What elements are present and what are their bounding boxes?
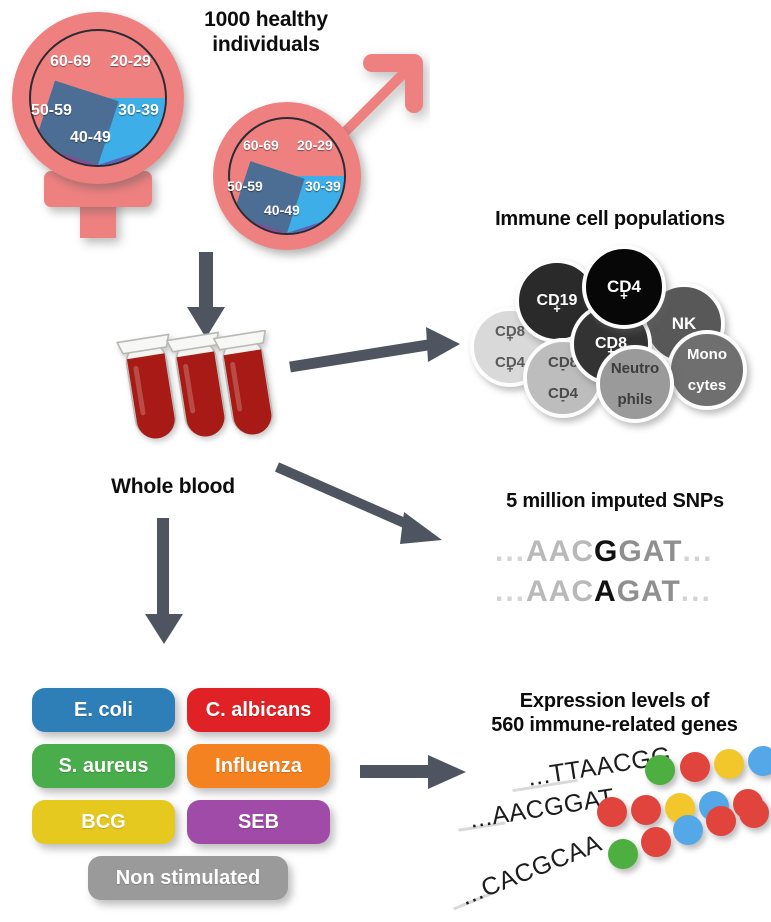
male-pie-label-30-39: 30-39 — [305, 178, 341, 194]
snp-row2-left: AAC — [526, 575, 594, 608]
whole-blood-tubes — [95, 330, 285, 450]
immune-cell-cd4: CD4+ — [582, 245, 666, 329]
stimulus-bcg-label: BCG — [81, 811, 125, 834]
stimulus-seb[interactable]: SEB — [187, 800, 330, 844]
male-pie-label-60-69: 60-69 — [243, 137, 279, 153]
dna-bead — [608, 839, 638, 869]
dna-strand-2-sequence: ...AACGGAT — [468, 783, 617, 835]
male-pie-label-20-29: 20-29 — [297, 137, 333, 153]
female-pie-label-50-59: 50-59 — [31, 102, 72, 120]
female-pie-label-20-29: 20-29 — [110, 53, 151, 71]
cohort-title-line1: 1000 healthy — [172, 8, 360, 33]
snp-row2-variant: A — [594, 575, 617, 608]
snp-row2-right: GAT — [617, 575, 681, 608]
expression-dna-strands: ...TTAACGG ...AACGGAT ...CACGCAA — [440, 748, 771, 918]
dna-bead — [748, 746, 771, 776]
stimulus-e-coli-label: E. coli — [74, 699, 133, 722]
arrow-blood-to-stimuli — [142, 518, 186, 646]
male-pie-label-40-49: 40-49 — [264, 202, 300, 218]
expression-title-line2: 560 immune-related genes — [462, 714, 767, 738]
arrow-blood-to-snp — [274, 450, 454, 550]
snp-row1-prefix: ... — [495, 535, 526, 568]
snp-row2-prefix: ... — [495, 575, 526, 608]
female-pie-label-40-49: 40-49 — [70, 129, 111, 147]
snp-sequence-row-1: ...AACGGAT... — [495, 535, 713, 569]
female-pie-label-60-69: 60-69 — [50, 53, 91, 71]
immune-cell-monocytes: Mono cytes — [667, 330, 747, 410]
stimulus-influenza[interactable]: Influenza — [187, 744, 330, 788]
snp-title: 5 million imputed SNPs — [465, 490, 765, 514]
dna-bead — [673, 815, 703, 845]
immune-cell-neutrophils: Neutro phils — [596, 345, 674, 423]
stimulus-non-stimulated[interactable]: Non stimulated — [88, 856, 288, 900]
dna-bead — [597, 797, 627, 827]
stimulus-non-stimulated-label: Non stimulated — [116, 867, 260, 890]
expression-title-line1: Expression levels of — [462, 690, 767, 714]
stimulus-seb-label: SEB — [238, 811, 279, 834]
male-symbol: 20-29 30-39 40-49 50-59 60-69 — [205, 40, 430, 250]
arrow-blood-to-immune — [288, 325, 463, 380]
stimulus-s-aureus-label: S. aureus — [58, 755, 148, 778]
stimulus-e-coli[interactable]: E. coli — [32, 688, 175, 732]
immune-cell-cluster: CD19+ CD4+ CD8+ CD4+ CD8+ NK CD8- CD4- N… — [460, 245, 760, 420]
immune-cell-neutrophils-line1: Neutro — [611, 361, 659, 376]
dna-bead — [645, 755, 675, 785]
female-pie-label-30-39: 30-39 — [118, 102, 159, 120]
dna-bead — [641, 827, 671, 857]
stimulus-s-aureus[interactable]: S. aureus — [32, 744, 175, 788]
immune-cell-monocytes-line1: Mono — [687, 347, 727, 362]
snp-row1-right: GAT — [618, 535, 682, 568]
dna-strand-3-sequence: ...CACGCAA — [457, 829, 606, 912]
snp-row1-suffix: ... — [682, 535, 713, 568]
expression-title: Expression levels of 560 immune-related … — [462, 690, 767, 737]
immune-cell-neutrophils-line2: phils — [611, 392, 659, 407]
whole-blood-label: Whole blood — [78, 475, 268, 500]
female-symbol: 20-29 30-39 40-49 50-59 60-69 — [8, 8, 188, 238]
stimulus-c-albicans[interactable]: C. albicans — [187, 688, 330, 732]
male-pie-label-50-59: 50-59 — [227, 178, 263, 194]
dna-bead — [739, 798, 769, 828]
arrow-cohort-to-blood — [180, 252, 232, 342]
snp-row1-left: AAC — [526, 535, 594, 568]
stimulus-c-albicans-label: C. albicans — [206, 699, 312, 722]
snp-row1-variant: G — [594, 535, 618, 568]
dna-bead — [631, 795, 661, 825]
dna-bead — [706, 806, 736, 836]
stimulus-influenza-label: Influenza — [215, 755, 302, 778]
dna-bead — [714, 749, 744, 779]
immune-cell-nk-label: NK — [672, 315, 697, 332]
snp-sequence-row-2: ...AACAGAT... — [495, 575, 712, 609]
immune-cell-monocytes-line2: cytes — [687, 378, 727, 393]
dna-bead — [680, 752, 710, 782]
snp-row2-suffix: ... — [681, 575, 712, 608]
stimulus-bcg[interactable]: BCG — [32, 800, 175, 844]
immune-populations-title: Immune cell populations — [455, 208, 765, 232]
